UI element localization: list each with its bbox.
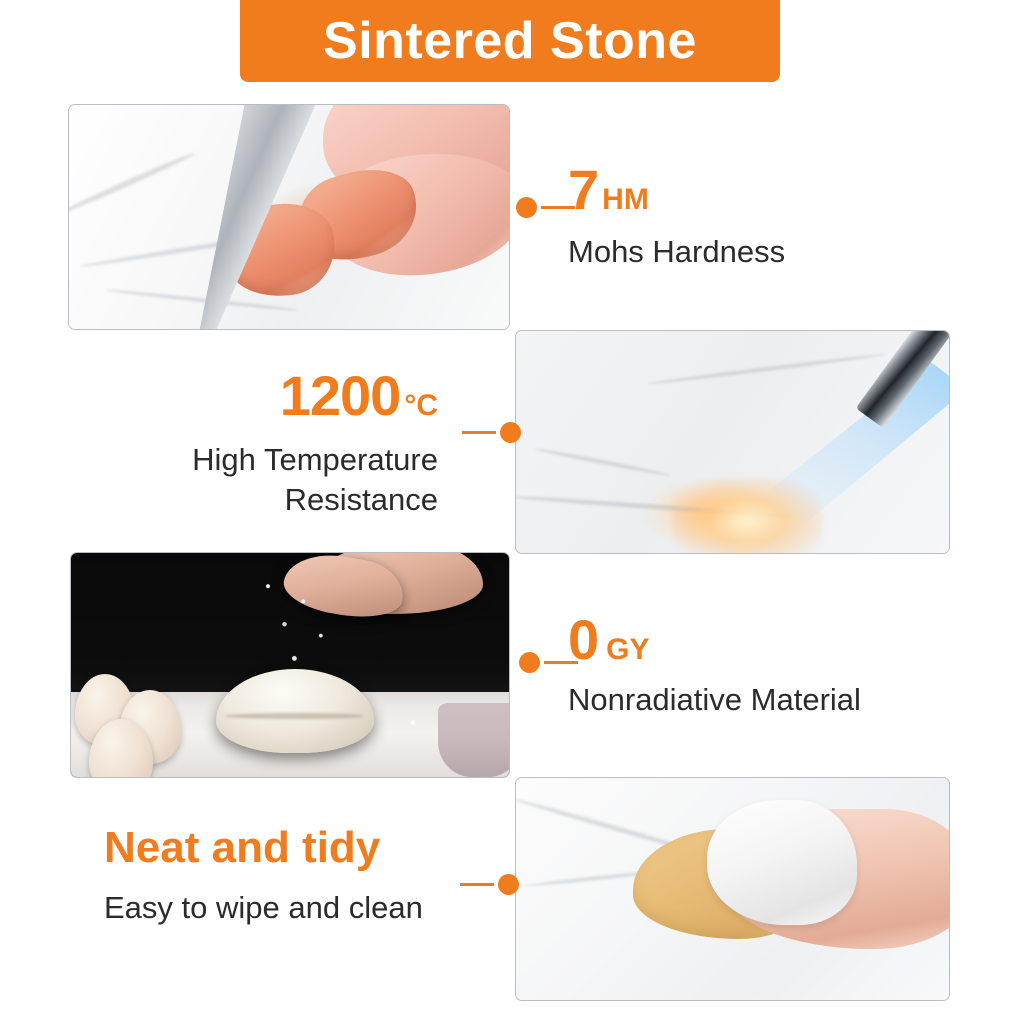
feature-caption: High Temperature Resistance xyxy=(60,440,438,519)
connector-dot xyxy=(519,652,540,673)
feature-mohs-hardness: 7HM Mohs Hardness xyxy=(568,162,928,272)
glass-bowl xyxy=(438,703,510,777)
photo-dough-scene xyxy=(71,553,509,777)
title-banner: Sintered Stone xyxy=(240,0,780,82)
feature-high-temperature-resistance: 1200°C High Temperature Resistance xyxy=(60,368,438,519)
feature-headline: 0GY xyxy=(568,612,968,668)
feature-headline: Neat and tidy xyxy=(104,826,484,870)
feature-value: 1200 xyxy=(280,364,401,427)
wiping-cloth xyxy=(707,800,857,925)
photo-torch-scene xyxy=(516,331,949,553)
photo-dough-flour xyxy=(70,552,510,778)
feature-unit: °C xyxy=(404,389,438,422)
marble-vein xyxy=(534,447,671,477)
connector-line xyxy=(462,431,496,434)
feature-nonradiative-material: 0GY Nonradiative Material xyxy=(568,612,968,720)
feature-caption: Nonradiative Material xyxy=(568,680,968,720)
feature-phrase: Neat and tidy xyxy=(104,823,380,872)
feature-caption: Mohs Hardness xyxy=(568,232,928,272)
feature-unit: GY xyxy=(606,633,649,666)
connector-dot xyxy=(516,197,537,218)
photo-wiping-spill xyxy=(515,777,950,1001)
feature-value: 0 xyxy=(568,608,598,671)
connector-mohs-hardness xyxy=(516,197,575,218)
feature-neat-and-tidy: Neat and tidy Easy to wipe and clean xyxy=(104,826,484,928)
feature-headline: 7HM xyxy=(568,162,928,218)
photo-knife-scene xyxy=(69,105,509,329)
photo-knife-cutting-salmon xyxy=(68,104,510,330)
connector-high-temperature xyxy=(462,422,521,443)
photo-wipe-scene xyxy=(516,778,949,1000)
photo-torch-flame xyxy=(515,330,950,554)
marble-vein xyxy=(68,151,196,217)
connector-dot xyxy=(500,422,521,443)
connector-dot xyxy=(498,874,519,895)
feature-headline: 1200°C xyxy=(60,368,438,424)
feature-unit: HM xyxy=(602,183,649,216)
sintered-stone-infographic: Sintered Stone 7HM Mohs Hardness xyxy=(0,0,1018,1018)
marble-vein xyxy=(647,352,888,386)
page-title: Sintered Stone xyxy=(323,15,697,67)
feature-value: 7 xyxy=(568,158,598,221)
torch-hotspot xyxy=(672,478,822,554)
feature-caption: Easy to wipe and clean xyxy=(104,888,484,928)
